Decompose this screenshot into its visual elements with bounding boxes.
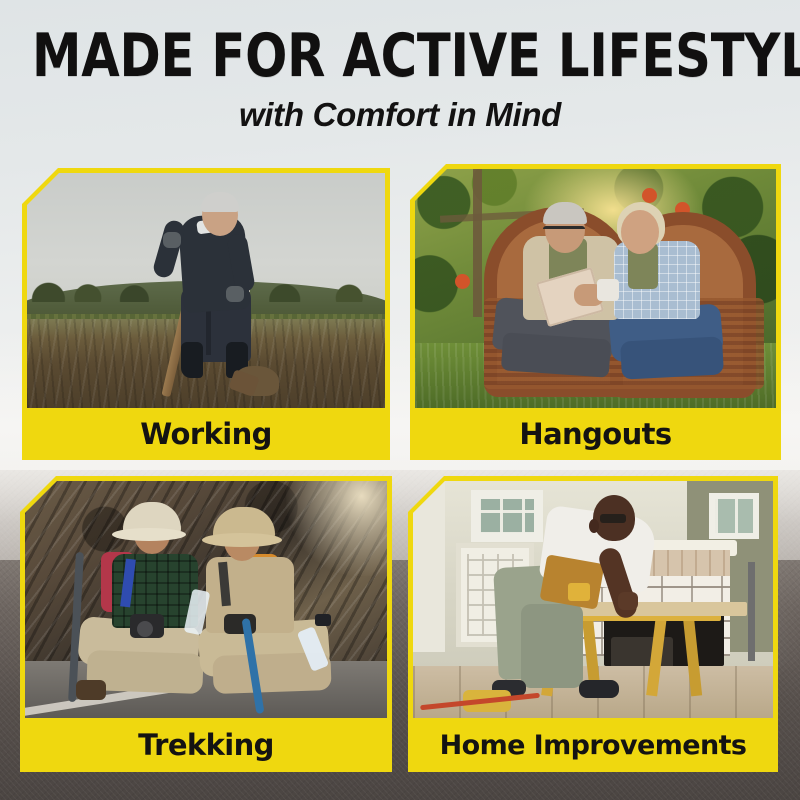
card-photo-hangouts — [415, 169, 776, 408]
category-card-home-improvements[interactable]: Home Improvements — [408, 476, 778, 772]
card-label-home-improvements: Home Improvements — [408, 718, 778, 772]
card-label-hangouts: Hangouts — [410, 408, 781, 460]
page-subtitle: with Comfort in Mind — [0, 96, 800, 134]
scene-man-sawing — [413, 481, 773, 718]
card-label-text: Trekking — [138, 728, 274, 762]
card-label-text: Working — [140, 417, 272, 451]
page-title: MADE FOR ACTIVE LIFESTYLE — [32, 26, 768, 86]
card-label-text: Hangouts — [519, 417, 671, 451]
scene-two-hikers — [25, 481, 387, 718]
scene-farmer-digging — [27, 173, 385, 408]
card-label-trekking: Trekking — [20, 718, 392, 772]
card-photo-home-improvements — [413, 481, 773, 718]
card-photo-trekking — [25, 481, 387, 718]
card-label-text: Home Improvements — [440, 730, 747, 761]
category-card-working[interactable]: Working — [22, 168, 390, 460]
category-card-trekking[interactable]: Trekking — [20, 476, 392, 772]
card-photo-working — [27, 173, 385, 408]
scene-couple-garden — [415, 169, 776, 408]
card-label-working: Working — [22, 408, 390, 460]
heading-block: MADE FOR ACTIVE LIFESTYLE with Comfort i… — [0, 26, 800, 134]
category-card-hangouts[interactable]: Hangouts — [410, 164, 781, 460]
